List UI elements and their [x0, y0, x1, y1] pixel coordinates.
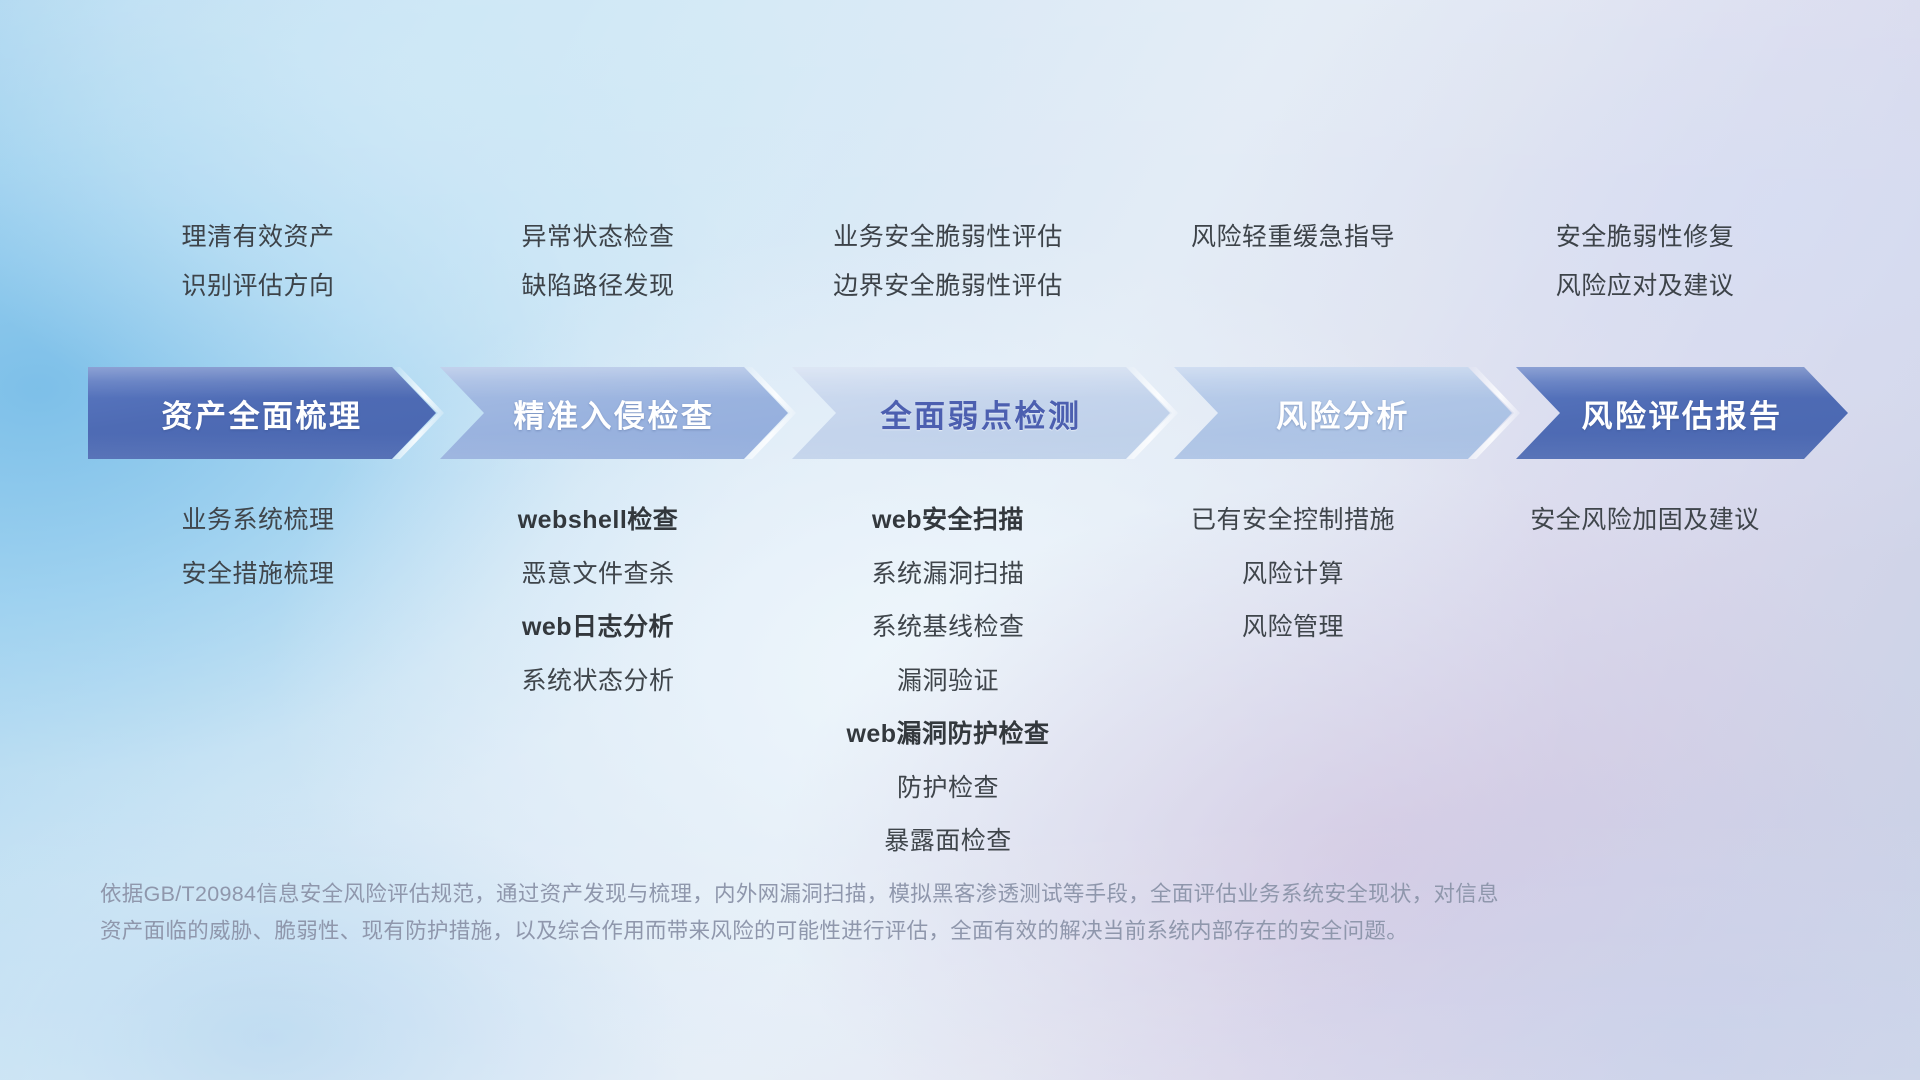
- lower-caption-line: web漏洞防护检查: [846, 719, 1049, 750]
- lower-caption-line: 风险管理: [1242, 612, 1344, 643]
- process-step-label: 精准入侵检查: [514, 391, 715, 436]
- lower-caption-group-risk-report: 安全风险加固及建议: [1458, 505, 1832, 536]
- lower-caption-group-asset-inventory: 业务系统梳理 安全措施梳理: [88, 505, 428, 589]
- lower-caption-line: web日志分析: [522, 612, 674, 643]
- process-chevron-band: 资产全面梳理 精准入侵检查 全面弱点检测 风险分析: [88, 367, 1848, 459]
- upper-caption-group-intrusion-check: 异常状态检查 缺陷路径发现: [428, 222, 768, 301]
- lower-caption-line: 防护检查: [897, 773, 999, 804]
- lower-caption-line: web安全扫描: [872, 505, 1024, 536]
- process-step-label: 风险评估报告: [1582, 391, 1783, 436]
- lower-caption-line: 暴露面检查: [884, 826, 1012, 857]
- lower-caption-group-weakness-detection: web安全扫描 系统漏洞扫描 系统基线检查 漏洞验证 web漏洞防护检查 防护检…: [768, 505, 1128, 857]
- upper-caption-line: 异常状态检查: [521, 222, 674, 253]
- lower-caption-line: webshell检查: [518, 505, 679, 536]
- lower-caption-line: 漏洞验证: [897, 666, 999, 697]
- lower-captions-row: 业务系统梳理 安全措施梳理 webshell检查 恶意文件查杀 web日志分析 …: [88, 505, 1832, 857]
- upper-caption-line: 安全脆弱性修复: [1556, 222, 1735, 253]
- lower-caption-line: 安全风险加固及建议: [1530, 505, 1760, 536]
- upper-caption-line: 业务安全脆弱性评估: [833, 222, 1063, 253]
- process-step-label: 风险分析: [1276, 391, 1410, 436]
- process-step-label: 资产全面梳理: [162, 391, 363, 436]
- process-step-risk-report[interactable]: 风险评估报告: [1516, 367, 1848, 459]
- upper-caption-line: 缺陷路径发现: [521, 271, 674, 302]
- upper-caption-line: 风险轻重缓急指导: [1191, 222, 1395, 253]
- upper-caption-group-asset-inventory: 理清有效资产 识别评估方向: [88, 222, 428, 301]
- upper-captions-row: 理清有效资产 识别评估方向 异常状态检查 缺陷路径发现 业务安全脆弱性评估 边界…: [88, 222, 1832, 301]
- lower-caption-line: 系统漏洞扫描: [871, 559, 1024, 590]
- process-step-weakness-detection[interactable]: 全面弱点检测: [792, 367, 1170, 459]
- footer-line: 依据GB/T20984信息安全风险评估规范，通过资产发现与梳理，内外网漏洞扫描，…: [100, 876, 1620, 913]
- process-step-asset-inventory[interactable]: 资产全面梳理: [88, 367, 436, 459]
- upper-caption-group-risk-report: 安全脆弱性修复 风险应对及建议: [1458, 222, 1832, 301]
- lower-caption-line: 已有安全控制措施: [1191, 505, 1395, 536]
- lower-caption-group-risk-analysis: 已有安全控制措施 风险计算 风险管理: [1128, 505, 1458, 643]
- lower-caption-line: 风险计算: [1242, 559, 1344, 590]
- diagram-content: 理清有效资产 识别评估方向 异常状态检查 缺陷路径发现 业务安全脆弱性评估 边界…: [0, 0, 1920, 1080]
- lower-caption-line: 系统基线检查: [871, 612, 1024, 643]
- upper-caption-line: 边界安全脆弱性评估: [833, 271, 1063, 302]
- footer-description: 依据GB/T20984信息安全风险评估规范，通过资产发现与梳理，内外网漏洞扫描，…: [100, 876, 1620, 950]
- process-step-intrusion-check[interactable]: 精准入侵检查: [440, 367, 788, 459]
- upper-caption-group-weakness-detection: 业务安全脆弱性评估 边界安全脆弱性评估: [768, 222, 1128, 301]
- upper-caption-line: 风险应对及建议: [1556, 271, 1735, 302]
- footer-line: 资产面临的威胁、脆弱性、现有防护措施，以及综合作用而带来风险的可能性进行评估，全…: [100, 913, 1620, 950]
- upper-caption-group-risk-analysis: 风险轻重缓急指导: [1128, 222, 1458, 301]
- lower-caption-line: 业务系统梳理: [181, 505, 334, 536]
- process-step-label: 全面弱点检测: [881, 391, 1082, 436]
- lower-caption-line: 安全措施梳理: [181, 559, 334, 590]
- slide-canvas: 理清有效资产 识别评估方向 异常状态检查 缺陷路径发现 业务安全脆弱性评估 边界…: [0, 0, 1920, 1080]
- lower-caption-line: 恶意文件查杀: [521, 559, 674, 590]
- lower-caption-group-intrusion-check: webshell检查 恶意文件查杀 web日志分析 系统状态分析: [428, 505, 768, 696]
- upper-caption-line: 识别评估方向: [181, 271, 334, 302]
- upper-caption-line: 理清有效资产: [181, 222, 334, 253]
- process-step-risk-analysis[interactable]: 风险分析: [1174, 367, 1512, 459]
- lower-caption-line: 系统状态分析: [521, 666, 674, 697]
